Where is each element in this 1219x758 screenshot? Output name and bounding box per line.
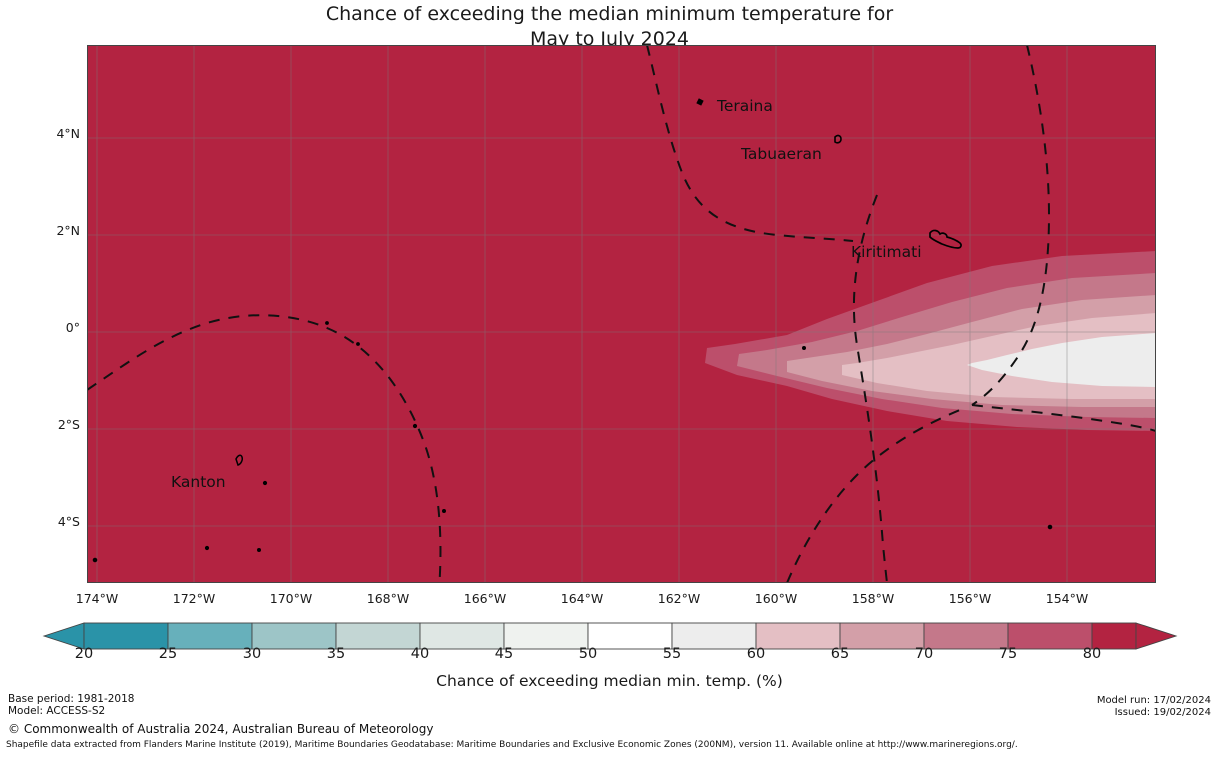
island-dot-6 — [205, 546, 208, 549]
x-tick-label-4: 166°W — [450, 591, 520, 606]
footer-base-period: Base period: 1981-2018 — [8, 694, 433, 706]
x-tick-label-1: 172°W — [159, 591, 229, 606]
eez-line-mid — [647, 45, 853, 241]
island-dot-5 — [443, 510, 446, 513]
x-tick-label-2: 170°W — [256, 591, 326, 606]
x-tick-label-7: 160°W — [741, 591, 811, 606]
x-tick-label-3: 168°W — [353, 591, 423, 606]
colorbar-tick-labels: 20 25 30 35 40 45 50 55 60 65 70 75 80 — [0, 646, 1219, 666]
place-label-teraina: Teraina — [717, 97, 773, 115]
island-dot-2 — [357, 343, 360, 346]
chart-title-line1: Chance of exceeding the median minimum t… — [0, 2, 1219, 27]
island-teraina — [697, 99, 703, 105]
y-tick-label-3: 2°S — [20, 417, 80, 432]
y-tick-label-0: 4°N — [20, 126, 80, 141]
y-tick-label-1: 2°N — [20, 223, 80, 238]
island-dot-4 — [263, 481, 266, 484]
footer-attribution: Shapefile data extracted from Flanders M… — [6, 740, 1018, 750]
island-dot-10 — [93, 558, 97, 562]
colorbar-axis-label: Chance of exceeding median min. temp. (%… — [0, 672, 1219, 690]
footer-copyright: © Commonwealth of Australia 2024, Austra… — [8, 720, 433, 738]
x-tick-label-6: 162°W — [644, 591, 714, 606]
island-dot-3 — [413, 424, 416, 427]
x-tick-label-0: 174°W — [62, 591, 132, 606]
map-plot-area[interactable] — [87, 45, 1156, 583]
island-kiritimati — [930, 230, 961, 248]
x-tick-label-8: 158°W — [838, 591, 908, 606]
x-tick-label-5: 164°W — [547, 591, 617, 606]
place-label-kiritimati: Kiritimati — [851, 243, 922, 261]
x-tick-label-10: 154°W — [1032, 591, 1102, 606]
colorbar-tick-3: 35 — [314, 646, 358, 662]
x-tick-label-9: 156°W — [935, 591, 1005, 606]
colorbar-tick-11: 75 — [986, 646, 1030, 662]
island-tabuaeran — [835, 136, 841, 143]
footer-left: Base period: 1981-2018 Model: ACCESS-S2 … — [8, 694, 433, 738]
colorbar-tick-8: 60 — [734, 646, 778, 662]
eez-phoenix — [87, 315, 440, 583]
footer-right: Model run: 17/02/2024 Issued: 19/02/2024 — [1097, 695, 1211, 718]
island-dot-1 — [326, 322, 329, 325]
footer-model-run: Model run: 17/02/2024 — [1097, 695, 1211, 707]
colorbar-tick-7: 55 — [650, 646, 694, 662]
colorbar-tick-12: 80 — [1070, 646, 1114, 662]
colorbar-tick-6: 50 — [566, 646, 610, 662]
y-tick-label-2: 0° — [20, 320, 80, 335]
eez-south-arc — [787, 407, 967, 583]
colorbar-tick-4: 40 — [398, 646, 442, 662]
colorbar-tick-0: 20 — [62, 646, 106, 662]
footer-model: Model: ACCESS-S2 — [8, 706, 433, 718]
island-dot-7 — [258, 549, 261, 552]
contour-bands — [705, 251, 1156, 431]
colorbar-tick-1: 25 — [146, 646, 190, 662]
colorbar-tick-5: 45 — [482, 646, 526, 662]
colorbar-tick-9: 65 — [818, 646, 862, 662]
island-kanton — [236, 455, 242, 465]
place-label-tabuaeran: Tabuaeran — [741, 145, 822, 163]
island-dot-8 — [803, 347, 806, 350]
footer-issued: Issued: 19/02/2024 — [1097, 707, 1211, 719]
colorbar-tick-10: 70 — [902, 646, 946, 662]
island-dot-9 — [1048, 525, 1052, 529]
place-label-kanton: Kanton — [171, 473, 226, 491]
colorbar-tick-2: 30 — [230, 646, 274, 662]
y-tick-label-4: 4°S — [20, 514, 80, 529]
